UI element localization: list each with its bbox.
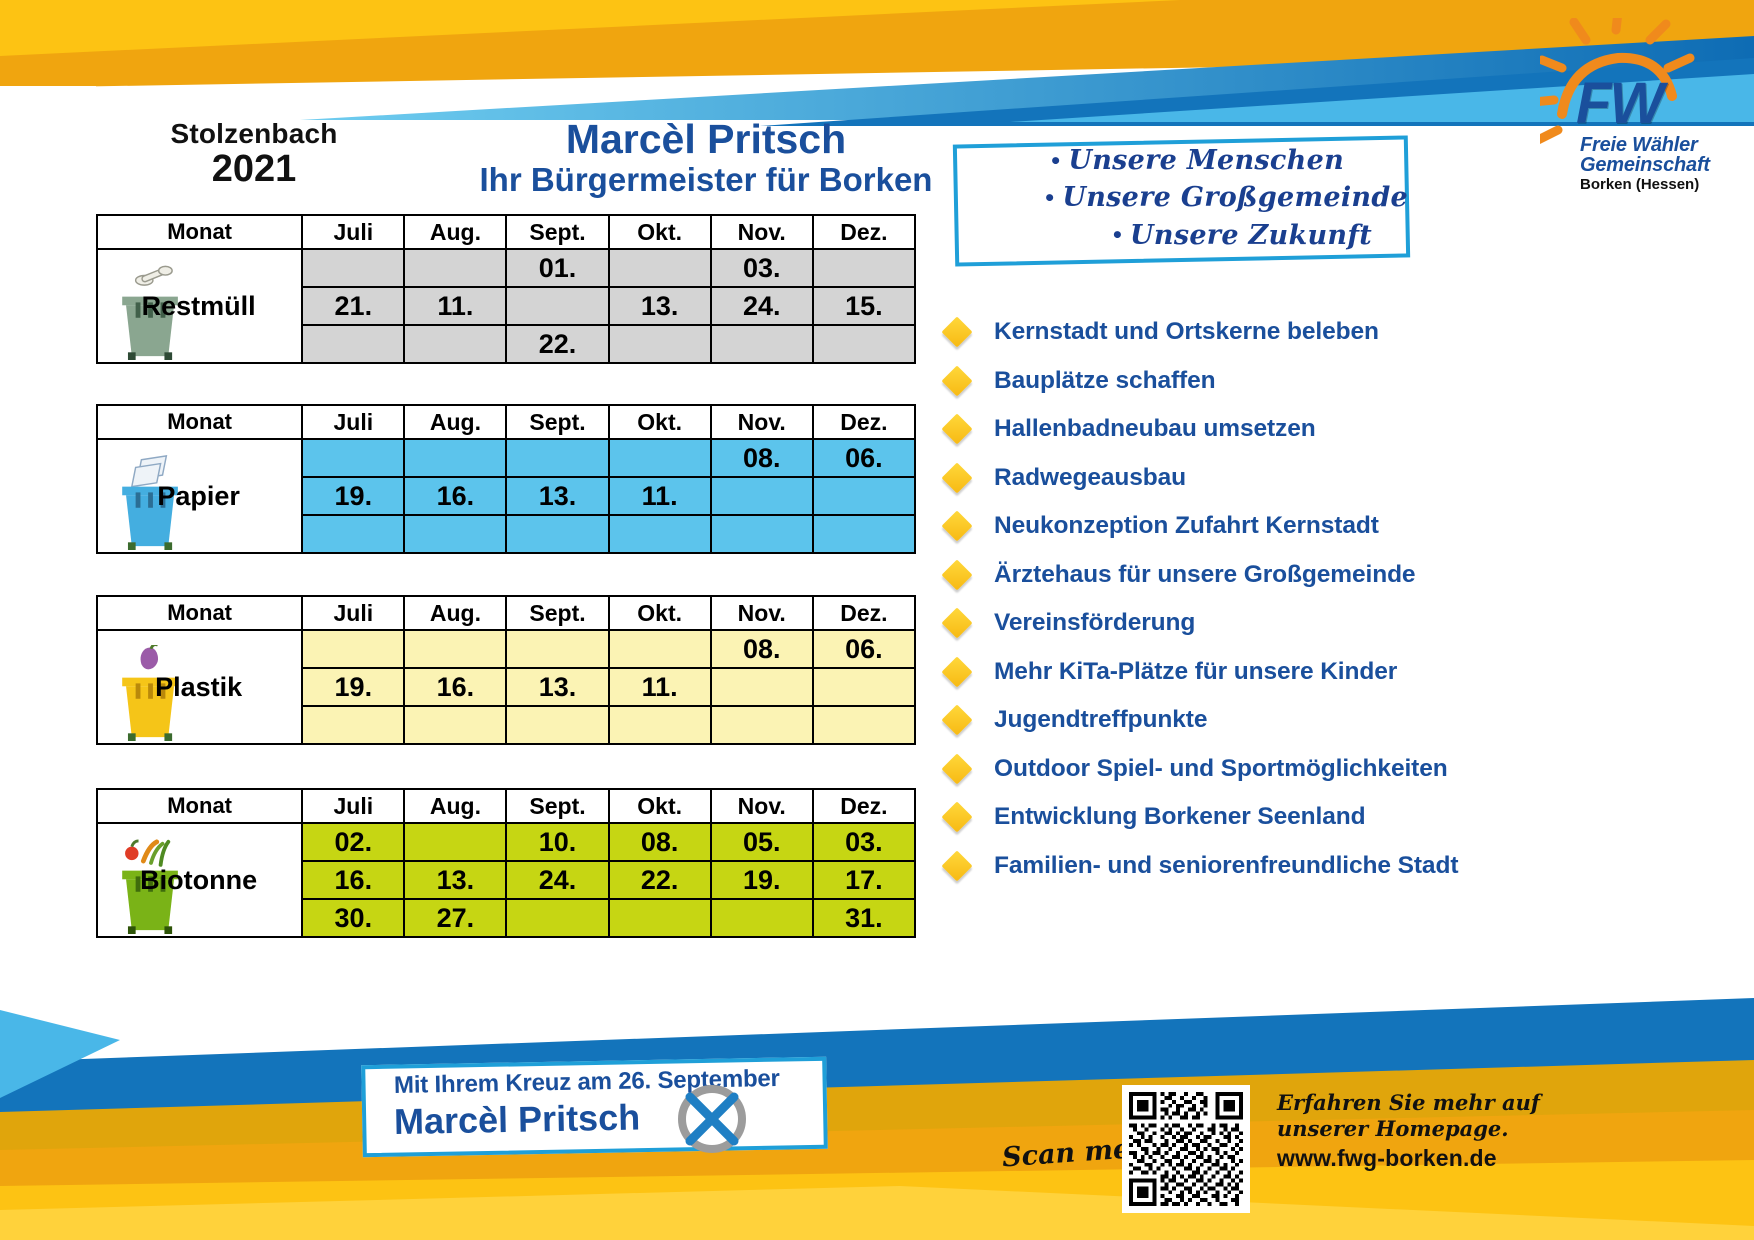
cell (404, 325, 506, 363)
cell (711, 899, 813, 937)
bin-label-restmuell: Restmüll (142, 291, 258, 321)
list-item: Ärztehaus für unsere Großgemeinde (940, 551, 1600, 600)
candidate-block: Marcèl Pritsch Ihr Bürgermeister für Bor… (396, 118, 1016, 198)
col-okt: Okt. (609, 405, 711, 439)
col-aug: Aug. (404, 789, 506, 823)
cell: 08. (711, 439, 813, 477)
list-item-label: Bauplätze schaffen (994, 367, 1215, 395)
col-sept: Sept. (506, 405, 608, 439)
cta-line2: Marcèl Pritsch (378, 1093, 849, 1144)
fw-logo: FW Freie Wähler Gemeinschaft Borken (Hes… (1540, 18, 1740, 196)
cell (609, 515, 711, 553)
cell (609, 630, 711, 668)
cell: 22. (506, 325, 608, 363)
col-aug: Aug. (404, 405, 506, 439)
col-sept: Sept. (506, 596, 608, 630)
cell (813, 249, 915, 287)
diamond-bullet-icon (941, 608, 972, 639)
col-monat: Monat (97, 789, 302, 823)
cell (302, 325, 404, 363)
list-item: Jugendtreffpunkte (940, 696, 1600, 745)
cell (404, 630, 506, 668)
cell: 06. (813, 439, 915, 477)
diamond-bullet-icon (941, 850, 972, 881)
cell: 08. (609, 823, 711, 861)
col-juli: Juli (302, 789, 404, 823)
cell (506, 439, 608, 477)
col-juli: Juli (302, 215, 404, 249)
cell (506, 706, 608, 744)
col-nov: Nov. (711, 405, 813, 439)
cell: 19. (711, 861, 813, 899)
list-item-label: Kernstadt und Ortskerne beleben (994, 318, 1379, 346)
cell (404, 706, 506, 744)
bin-cell-restmuell: Restmüll (97, 249, 302, 363)
cell: 05. (711, 823, 813, 861)
cell (506, 287, 608, 325)
diamond-bullet-icon (941, 559, 972, 590)
cell (609, 439, 711, 477)
slogan-text: •Unsere Menschen •Unsere Großgemeinde •U… (950, 142, 1430, 264)
cell (506, 630, 608, 668)
diamond-bullet-icon (941, 365, 972, 396)
list-item-label: Radwegeausbau (994, 464, 1186, 492)
list-item: Mehr KiTa-Plätze für unsere Kinder (940, 648, 1600, 697)
cell: 19. (302, 477, 404, 515)
cell: 16. (404, 477, 506, 515)
col-okt: Okt. (609, 215, 711, 249)
col-okt: Okt. (609, 789, 711, 823)
qr-code-image (1129, 1092, 1243, 1206)
cell (609, 899, 711, 937)
cell (813, 668, 915, 706)
scan-me-label: Scan me (1001, 1134, 1131, 1174)
cell: 11. (609, 477, 711, 515)
list-item: Neukonzeption Zufahrt Kernstadt (940, 502, 1600, 551)
bin-label-biotonne: Biotonne (140, 865, 259, 895)
list-item: Familien- und seniorenfreundliche Stadt (940, 842, 1600, 891)
diamond-bullet-icon (941, 511, 972, 542)
col-dez: Dez. (813, 596, 915, 630)
bullet-dot-icon: • (1111, 223, 1124, 247)
cell: 13. (404, 861, 506, 899)
cell: 21. (302, 287, 404, 325)
col-nov: Nov. (711, 215, 813, 249)
cell (404, 515, 506, 553)
homepage-line2: unserer Homepage. (1277, 1116, 1540, 1142)
candidate-subtitle: Ihr Bürgermeister für Borken (396, 162, 1016, 198)
cell (711, 325, 813, 363)
table-row: Restmüll 01. 03. (97, 249, 915, 287)
bin-label-papier: Papier (157, 481, 242, 511)
diamond-bullet-icon (941, 753, 972, 784)
bin-cell-biotonne: Biotonne (97, 823, 302, 937)
col-aug: Aug. (404, 596, 506, 630)
table-restmuell: Monat Juli Aug. Sept. Okt. Nov. Dez. (96, 214, 916, 364)
list-item-label: Entwicklung Borkener Seenland (994, 803, 1366, 831)
list-item-label: Outdoor Spiel- und Sportmöglichkeiten (994, 755, 1448, 783)
slogan-line-3: •Unsere Zukunft (950, 217, 1430, 254)
list-item: Entwicklung Borkener Seenland (940, 793, 1600, 842)
col-monat: Monat (97, 596, 302, 630)
cell (302, 630, 404, 668)
col-sept: Sept. (506, 215, 608, 249)
cell: 02. (302, 823, 404, 861)
table-plastik: Monat Juli Aug. Sept. Okt. Nov. Dez. (96, 595, 916, 745)
homepage-url[interactable]: www.fwg-borken.de (1277, 1145, 1540, 1172)
logo-line2: Gemeinschaft (1580, 154, 1710, 177)
cell (506, 899, 608, 937)
table-row: Plastik 08. 06. (97, 630, 915, 668)
bullet-dot-icon: • (1043, 186, 1056, 210)
list-item: Outdoor Spiel- und Sportmöglichkeiten (940, 745, 1600, 794)
cell (813, 515, 915, 553)
cell (711, 477, 813, 515)
logo-abbr: FW (1576, 70, 1662, 137)
place-block: Stolzenbach 2021 (104, 118, 404, 191)
diamond-bullet-icon (941, 802, 972, 833)
cell: 16. (404, 668, 506, 706)
cell: 11. (609, 668, 711, 706)
bin-cell-papier: Papier (97, 439, 302, 553)
cell (609, 249, 711, 287)
table-row: Papier 08. 06. (97, 439, 915, 477)
col-dez: Dez. (813, 789, 915, 823)
logo-line3: Borken (Hessen) (1580, 176, 1699, 193)
cell: 06. (813, 630, 915, 668)
cell: 27. (404, 899, 506, 937)
cell: 19. (302, 668, 404, 706)
program-bullet-list: Kernstadt und Ortskerne beleben Bauplätz… (940, 308, 1600, 890)
list-item: Bauplätze schaffen (940, 357, 1600, 406)
list-item-label: Vereinsförderung (994, 609, 1195, 637)
cell: 03. (711, 249, 813, 287)
cell: 24. (711, 287, 813, 325)
cell: 22. (609, 861, 711, 899)
table-header-row: Monat Juli Aug. Sept. Okt. Nov. Dez. (97, 215, 915, 249)
cell (506, 515, 608, 553)
table-row: Biotonne 02. 10. 08. 05. 03. (97, 823, 915, 861)
col-okt: Okt. (609, 596, 711, 630)
cell: 13. (506, 477, 608, 515)
diamond-bullet-icon (941, 705, 972, 736)
col-juli: Juli (302, 405, 404, 439)
cell (302, 249, 404, 287)
col-dez: Dez. (813, 215, 915, 249)
cell (711, 668, 813, 706)
table-papier: Monat Juli Aug. Sept. Okt. Nov. Dez. (96, 404, 916, 554)
cell (404, 823, 506, 861)
list-item-label: Familien- und seniorenfreundliche Stadt (994, 852, 1458, 880)
cell (813, 325, 915, 363)
cell (302, 706, 404, 744)
cell (711, 515, 813, 553)
list-item-label: Neukonzeption Zufahrt Kernstadt (994, 512, 1379, 540)
bin-cell-plastik: Plastik (97, 630, 302, 744)
list-item-label: Jugendtreffpunkte (994, 706, 1207, 734)
cell: 08. (711, 630, 813, 668)
place-name: Stolzenbach (104, 118, 404, 150)
cell: 31. (813, 899, 915, 937)
slogan-line-2: •Unsere Großgemeinde (950, 179, 1430, 216)
diamond-bullet-icon (941, 462, 972, 493)
list-item: Kernstadt und Ortskerne beleben (940, 308, 1600, 357)
col-juli: Juli (302, 596, 404, 630)
place-year: 2021 (104, 148, 404, 191)
bin-label-plastik: Plastik (155, 672, 244, 702)
cell (609, 325, 711, 363)
cell (813, 706, 915, 744)
col-sept: Sept. (506, 789, 608, 823)
col-monat: Monat (97, 215, 302, 249)
cell: 03. (813, 823, 915, 861)
cell: 10. (506, 823, 608, 861)
cell: 13. (506, 668, 608, 706)
cell (302, 439, 404, 477)
cell: 24. (506, 861, 608, 899)
cell: 01. (506, 249, 608, 287)
diamond-bullet-icon (941, 317, 972, 348)
table-header-row: Monat Juli Aug. Sept. Okt. Nov. Dez. (97, 405, 915, 439)
cell (711, 706, 813, 744)
cell (813, 477, 915, 515)
col-nov: Nov. (711, 789, 813, 823)
col-dez: Dez. (813, 405, 915, 439)
cell: 16. (302, 861, 404, 899)
homepage-info: Erfahren Sie mehr auf unserer Homepage. … (1277, 1090, 1540, 1172)
cell: 15. (813, 287, 915, 325)
list-item-label: Ärztehaus für unsere Großgemeinde (994, 561, 1415, 589)
cell (404, 439, 506, 477)
diamond-bullet-icon (941, 414, 972, 445)
cell: 11. (404, 287, 506, 325)
diamond-bullet-icon (941, 656, 972, 687)
cta-text: Mit Ihrem Kreuz am 26. September Marcèl … (378, 1068, 848, 1139)
candidate-name: Marcèl Pritsch (396, 118, 1016, 161)
list-item: Hallenbadneubau umsetzen (940, 405, 1600, 454)
col-nov: Nov. (711, 596, 813, 630)
qr-code[interactable] (1122, 1085, 1250, 1213)
table-header-row: Monat Juli Aug. Sept. Okt. Nov. Dez. (97, 789, 915, 823)
cell: 30. (302, 899, 404, 937)
cell (609, 706, 711, 744)
table-header-row: Monat Juli Aug. Sept. Okt. Nov. Dez. (97, 596, 915, 630)
list-item-label: Hallenbadneubau umsetzen (994, 415, 1316, 443)
list-item: Vereinsförderung (940, 599, 1600, 648)
homepage-line1: Erfahren Sie mehr auf (1277, 1090, 1540, 1116)
slogan-line-1: •Unsere Menschen (950, 142, 1430, 179)
cross-mark-icon (676, 1083, 748, 1155)
cell: 17. (813, 861, 915, 899)
bullet-dot-icon: • (1049, 149, 1062, 173)
cell (404, 249, 506, 287)
cell: 13. (609, 287, 711, 325)
table-biotonne: Monat Juli Aug. Sept. Okt. Nov. Dez. (96, 788, 916, 938)
col-aug: Aug. (404, 215, 506, 249)
col-monat: Monat (97, 405, 302, 439)
list-item-label: Mehr KiTa-Plätze für unsere Kinder (994, 658, 1397, 686)
list-item: Radwegeausbau (940, 454, 1600, 503)
cell (302, 515, 404, 553)
